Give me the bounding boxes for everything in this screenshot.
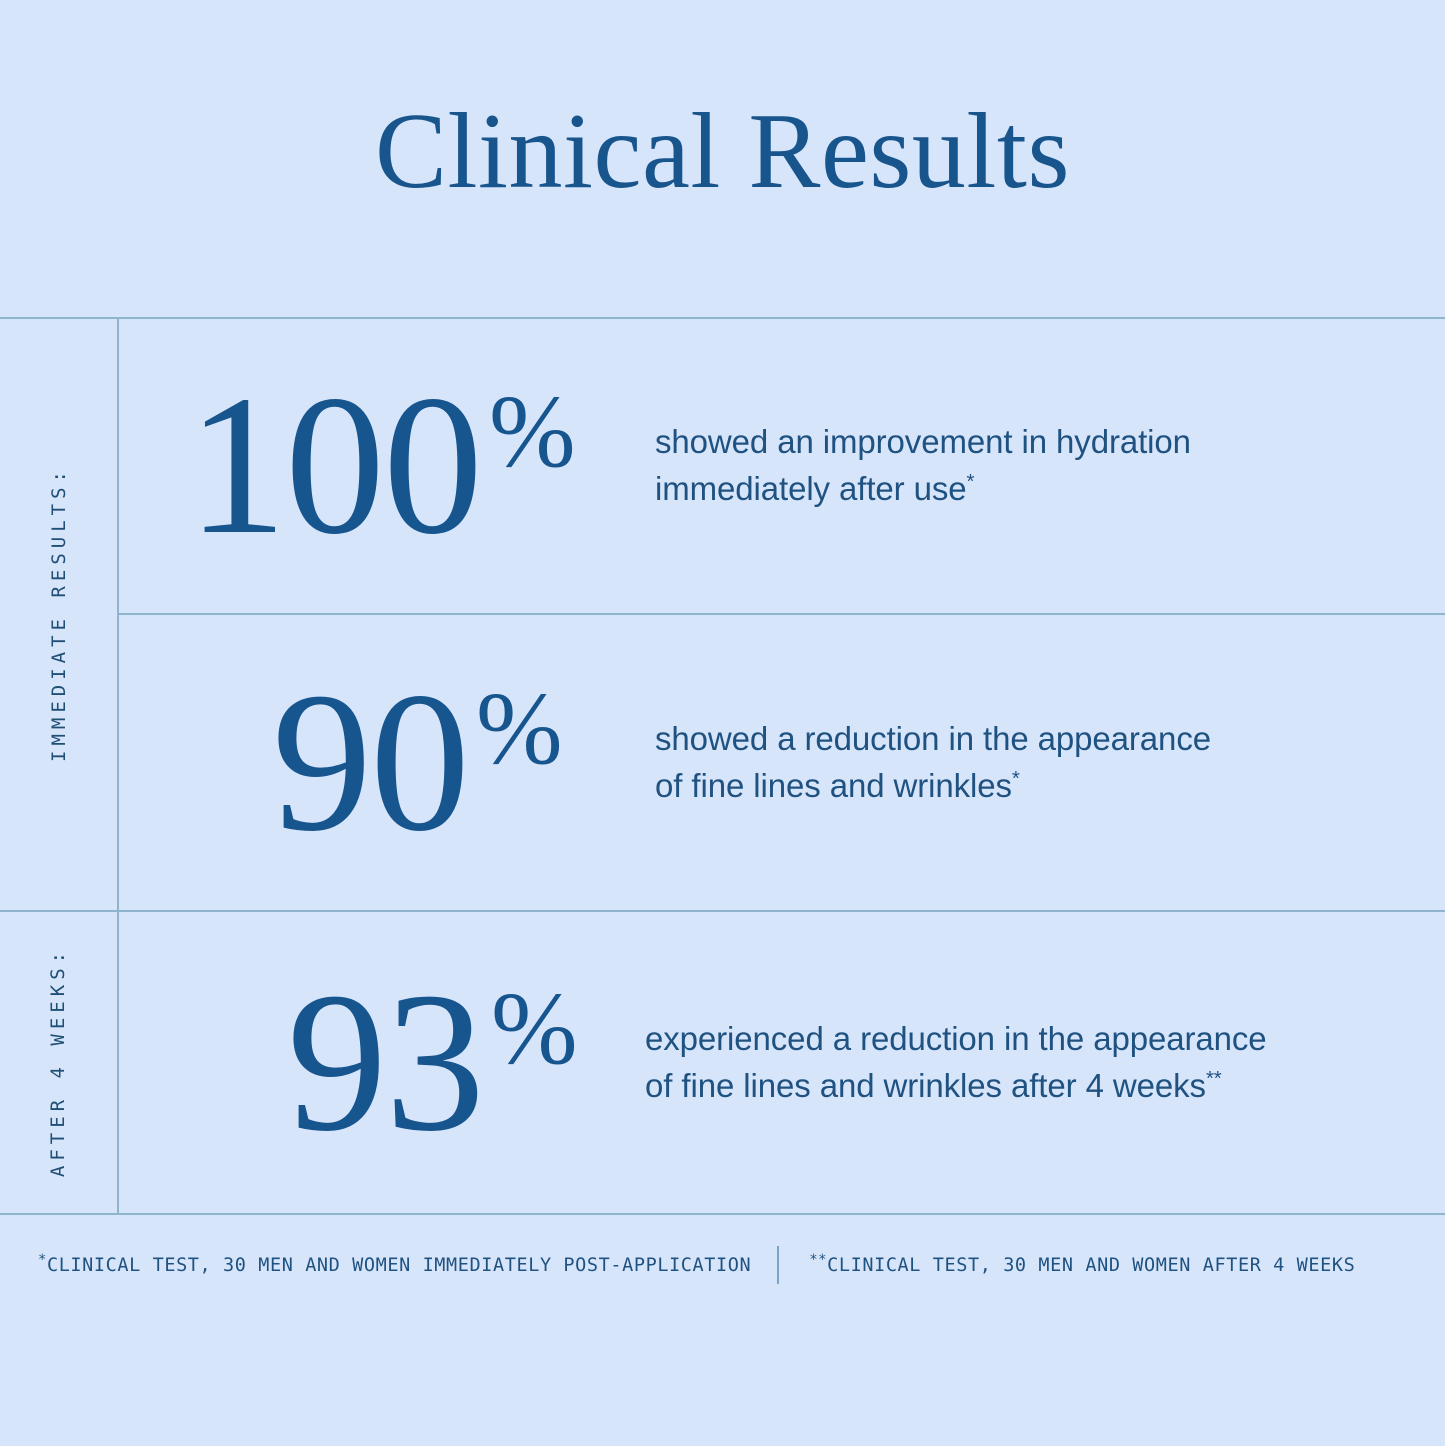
stat-number: 93	[287, 971, 483, 1155]
stat-figure: 93 %	[117, 971, 577, 1155]
stat-figure: 100 %	[117, 374, 577, 558]
stat-row: 90 % showed a reduction in the appearanc…	[117, 615, 1445, 910]
stat-description-line-2-text: immediately after use	[655, 470, 967, 507]
footnote-marker-single-asterisk: *	[38, 1251, 47, 1267]
stat-number: 100	[187, 374, 481, 558]
stat-row: 100 % showed an improvement in hydration…	[117, 319, 1445, 613]
footnote-immediate-text: CLINICAL TEST, 30 MEN AND WOMEN IMMEDIAT…	[47, 1255, 751, 1276]
stat-row: 93 % experienced a reduction in the appe…	[117, 912, 1445, 1213]
footnote-after-4-weeks: **CLINICAL TEST, 30 MEN AND WOMEN AFTER …	[809, 1255, 1355, 1276]
stat-description-line-1: showed a reduction in the appearance	[655, 716, 1445, 763]
page-title: Clinical Results	[375, 98, 1070, 220]
footnote-marker: *	[967, 470, 975, 493]
group-label-immediate-results: IMMEDIATE RESULTS:	[0, 317, 117, 910]
stat-description-line-1: showed an improvement in hydration	[655, 419, 1445, 466]
stat-figure: 90 %	[117, 671, 577, 855]
footnotes-section: *CLINICAL TEST, 30 MEN AND WOMEN IMMEDIA…	[0, 1215, 1445, 1315]
percent-symbol: %	[491, 977, 578, 1081]
footnote-marker: **	[1206, 1067, 1222, 1090]
group-label-after-4-weeks: AFTER 4 WEEKS:	[0, 910, 117, 1213]
stat-description-line-2: immediately after use*	[655, 466, 1445, 513]
stat-description-line-2: of fine lines and wrinkles*	[655, 763, 1445, 810]
percent-symbol: %	[476, 677, 563, 781]
stat-description: experienced a reduction in the appearanc…	[577, 1016, 1445, 1110]
stat-number: 90	[272, 671, 468, 855]
percent-symbol: %	[489, 380, 576, 484]
stat-description-line-2-text: of fine lines and wrinkles after 4 weeks	[645, 1067, 1206, 1104]
footnote-marker: *	[1012, 767, 1020, 790]
stat-description: showed a reduction in the appearance of …	[577, 716, 1445, 810]
stat-description-line-2: of fine lines and wrinkles after 4 weeks…	[645, 1063, 1445, 1110]
stat-description: showed an improvement in hydration immed…	[577, 419, 1445, 513]
footnote-marker-double-asterisk: **	[809, 1251, 827, 1267]
footnote-immediate: *CLINICAL TEST, 30 MEN AND WOMEN IMMEDIA…	[38, 1255, 751, 1276]
stat-description-line-1: experienced a reduction in the appearanc…	[645, 1016, 1445, 1063]
footnote-after-4-weeks-text: CLINICAL TEST, 30 MEN AND WOMEN AFTER 4 …	[827, 1255, 1355, 1276]
group-label-immediate-results-text: IMMEDIATE RESULTS:	[48, 466, 70, 762]
clinical-results-panel: Clinical Results IMMEDIATE RESULTS: AFTE…	[0, 0, 1445, 1446]
group-label-after-4-weeks-text: AFTER 4 WEEKS:	[48, 946, 70, 1176]
footnote-separator	[777, 1246, 779, 1284]
title-section: Clinical Results	[0, 0, 1445, 318]
stat-description-line-2-text: of fine lines and wrinkles	[655, 767, 1012, 804]
